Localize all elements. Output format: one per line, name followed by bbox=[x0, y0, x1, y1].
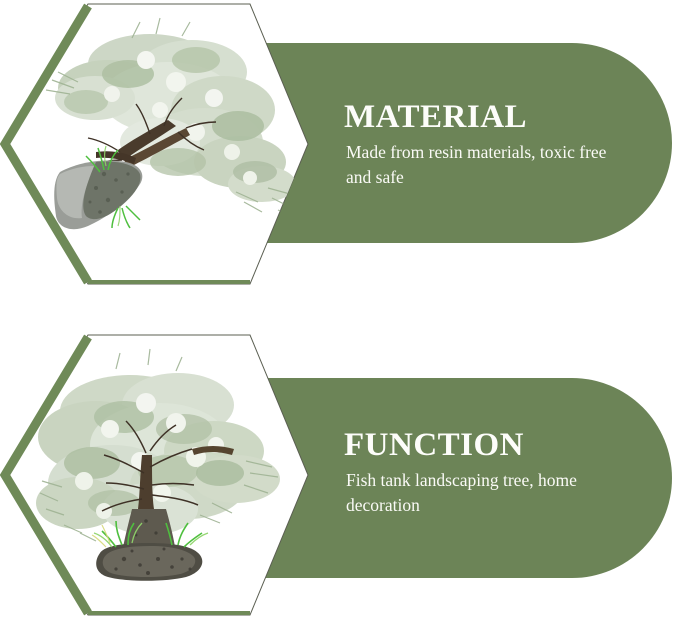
feature-panel-function: FUNCTION Fish tank landscaping tree, hom… bbox=[0, 320, 679, 620]
hexagon-outline-material bbox=[4, 4, 308, 284]
feature-description: Fish tank landscaping tree, home decorat… bbox=[346, 468, 626, 518]
hexagon-outline-function bbox=[4, 335, 308, 615]
feature-description: Made from resin materials, toxic free an… bbox=[346, 140, 626, 190]
feature-title: FUNCTION bbox=[344, 428, 644, 462]
hexagon-frame-material bbox=[0, 2, 310, 286]
hexagon-frame-function bbox=[0, 333, 310, 617]
feature-title: MATERIAL bbox=[344, 100, 644, 134]
text-block-function: FUNCTION Fish tank landscaping tree, hom… bbox=[344, 428, 644, 518]
feature-panel-material: MATERIAL Made from resin materials, toxi… bbox=[0, 0, 679, 300]
text-block-material: MATERIAL Made from resin materials, toxi… bbox=[344, 100, 644, 190]
